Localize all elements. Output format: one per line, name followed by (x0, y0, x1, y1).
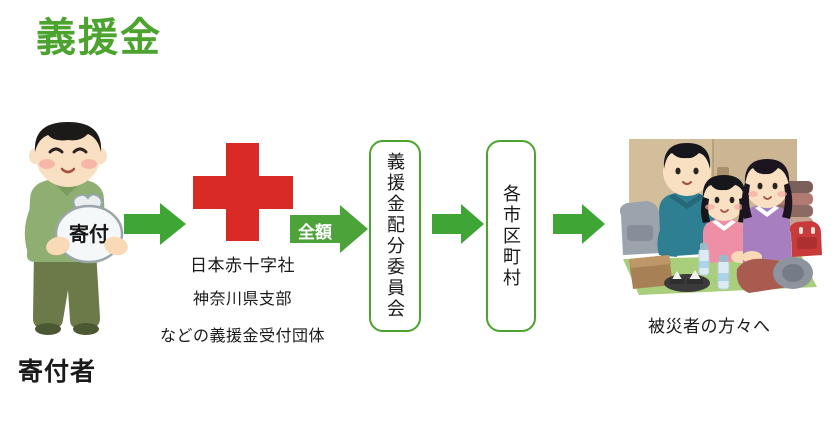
red-cross-icon (193, 143, 293, 241)
box-municipality[interactable]: 各市区町村 (486, 140, 536, 332)
box-distribution-committee[interactable]: 義援金配分委員会 (369, 140, 421, 332)
victims-caption: 被災者の方々へ (648, 312, 771, 337)
box-municipality-label: 各市区町村 (502, 184, 520, 289)
donor-caption: 寄付者 (18, 352, 96, 388)
arrow-municipality-to-victims (553, 204, 605, 244)
arrow-committee-to-municipality (432, 204, 484, 244)
redcross-other-orgs: などの義援金受付団体 (135, 322, 350, 346)
page-title: 義援金 (36, 16, 162, 60)
diagram-canvas: 義援金 (0, 0, 837, 424)
redcross-branch-name: 神奈川県支部 (135, 285, 350, 309)
svg-text:寄付: 寄付 (69, 222, 109, 246)
victims-illustration (615, 137, 825, 309)
box-distribution-committee-label: 義援金配分委員会 (386, 152, 404, 320)
donor-illustration: 寄付 (4, 122, 134, 340)
arrow-redcross-to-committee: 全額 (290, 205, 368, 253)
redcross-org-name: 日本赤十字社 (135, 251, 350, 276)
